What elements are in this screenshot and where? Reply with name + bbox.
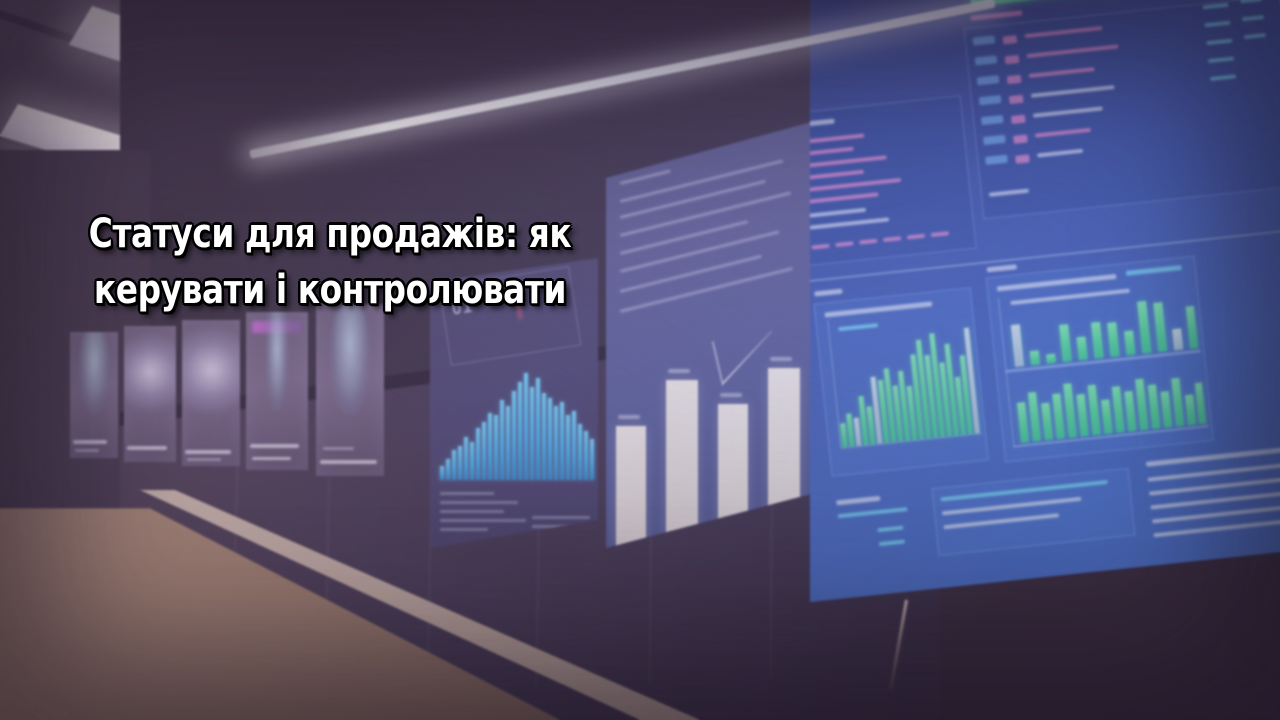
table-cell <box>1007 75 1022 84</box>
notes-title <box>836 496 880 506</box>
notes-line <box>838 507 908 518</box>
blue-distribution-histogram <box>438 370 594 480</box>
table-cell <box>1005 55 1020 64</box>
display-3[interactable] <box>182 320 240 466</box>
display-1[interactable] <box>70 332 118 458</box>
dashboard-panel[interactable] <box>800 0 1280 630</box>
hero-image: 01 <box>0 0 1280 720</box>
table-cell <box>1009 95 1024 104</box>
list-item <box>1146 444 1280 467</box>
notes-value <box>877 526 903 533</box>
chart-label <box>814 289 842 297</box>
display-2[interactable] <box>124 326 176 462</box>
title-overlay: Статуси для продажів: як керувати і конт… <box>0 206 660 318</box>
table-title <box>970 10 1022 20</box>
title-line-2: керувати і контролювати <box>59 262 600 318</box>
center-panel[interactable] <box>596 118 826 548</box>
display-4[interactable] <box>246 312 308 470</box>
dashboard-green-bar-chart-left <box>831 319 982 447</box>
table-panel[interactable] <box>964 0 1280 219</box>
table-cell <box>1011 115 1026 124</box>
title-line-1: Статуси для продажів: як <box>59 206 600 262</box>
notes-value <box>879 539 905 546</box>
table-header-band <box>970 0 1146 7</box>
table-cell <box>1015 154 1030 163</box>
table-cell <box>1003 35 1018 44</box>
display-5[interactable] <box>316 304 384 476</box>
table-cell <box>1013 134 1028 143</box>
chart-label <box>987 264 1017 272</box>
